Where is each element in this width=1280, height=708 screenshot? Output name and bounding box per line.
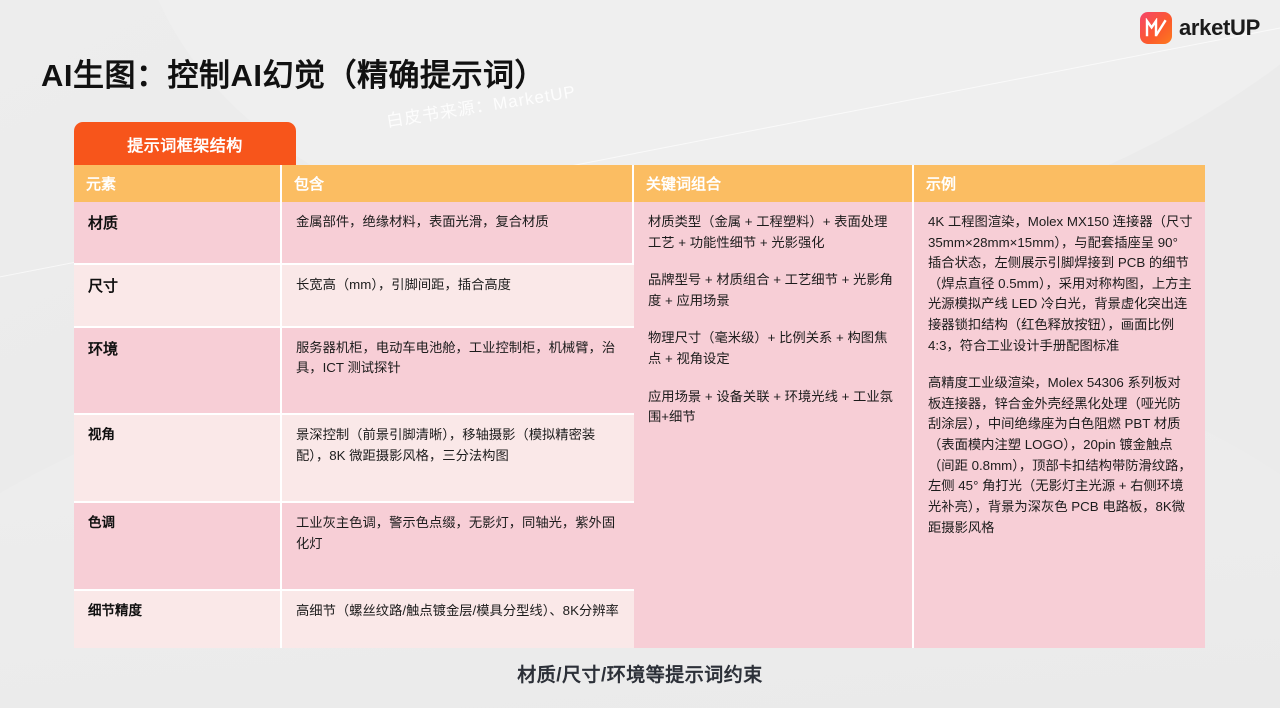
logo-wordmark: arketUP	[1179, 15, 1260, 41]
keyword-combo-item: 材质类型（金属 + 工程塑料）+ 表面处理工艺 + 功能性细节 + 光影强化	[648, 212, 900, 253]
cell-examples: 4K 工程图渲染，Molex MX150 连接器（尺寸 35mm×28mm×15…	[914, 202, 1205, 648]
element-label: 色调	[88, 515, 115, 530]
section-badge-label: 提示词框架结构	[127, 132, 243, 156]
cell-element: 视角	[74, 415, 282, 503]
column-header-keywords: 关键词组合	[634, 165, 914, 202]
column-header-contains: 包含	[282, 165, 634, 202]
column-header-element: 元素	[74, 165, 282, 202]
table-header-row: 元素 包含 关键词组合 示例	[74, 165, 1205, 202]
footer-note: 材质/尺寸/环境等提示词约束	[0, 660, 1280, 687]
cell-contains: 高细节（螺丝纹路/触点镀金层/模具分型线）、8K分辨率	[282, 591, 634, 648]
marketup-logo: arketUP	[1140, 12, 1260, 44]
element-label: 尺寸	[88, 278, 118, 295]
cell-contains: 金属部件，绝缘材料，表面光滑，复合材质	[282, 202, 634, 265]
cell-contains: 景深控制（前景引脚清晰），移轴摄影（模拟精密装配），8K 微距摄影风格，三分法构…	[282, 415, 634, 503]
column-header-example: 示例	[914, 165, 1205, 202]
element-label: 视角	[88, 427, 115, 442]
cell-element: 尺寸	[74, 265, 282, 328]
cell-element: 细节精度	[74, 591, 282, 648]
element-label: 材质	[88, 215, 118, 232]
cell-element: 环境	[74, 328, 282, 416]
element-label: 环境	[88, 341, 118, 358]
cell-element: 材质	[74, 202, 282, 265]
cell-contains: 长宽高（mm），引脚间距，插合高度	[282, 265, 634, 328]
example-item: 高精度工业级渲染，Molex 54306 系列板对板连接器，锌合金外壳经黑化处理…	[928, 373, 1193, 538]
cell-element: 色调	[74, 503, 282, 591]
prompt-framework-table: 元素 包含 关键词组合 示例 材质 金属部件，绝缘材料，表面光滑，复合材质 材质…	[74, 165, 1205, 648]
section-badge: 提示词框架结构	[74, 122, 296, 165]
keyword-combo-item: 应用场景 + 设备关联 + 环境光线 + 工业氛围+细节	[648, 387, 900, 428]
keyword-combo-item: 物理尺寸（毫米级）+ 比例关系 + 构图焦点 + 视角设定	[648, 328, 900, 369]
element-label: 细节精度	[88, 603, 142, 618]
keyword-combo-item: 品牌型号 + 材质组合 + 工艺细节 + 光影角度 + 应用场景	[648, 270, 900, 311]
marketup-m-logo-icon	[1140, 12, 1172, 44]
page-title: AI生图：控制AI幻觉（精确提示词）	[41, 50, 546, 95]
cell-keyword-combos: 材质类型（金属 + 工程塑料）+ 表面处理工艺 + 功能性细节 + 光影强化 品…	[634, 202, 914, 648]
table-row: 材质 金属部件，绝缘材料，表面光滑，复合材质 材质类型（金属 + 工程塑料）+ …	[74, 202, 1205, 265]
cell-contains: 服务器机柜，电动车电池舱，工业控制柜，机械臂，治具，ICT 测试探针	[282, 328, 634, 416]
cell-contains: 工业灰主色调，警示色点缀，无影灯，同轴光，紫外固化灯	[282, 503, 634, 591]
example-item: 4K 工程图渲染，Molex MX150 连接器（尺寸 35mm×28mm×15…	[928, 212, 1193, 356]
